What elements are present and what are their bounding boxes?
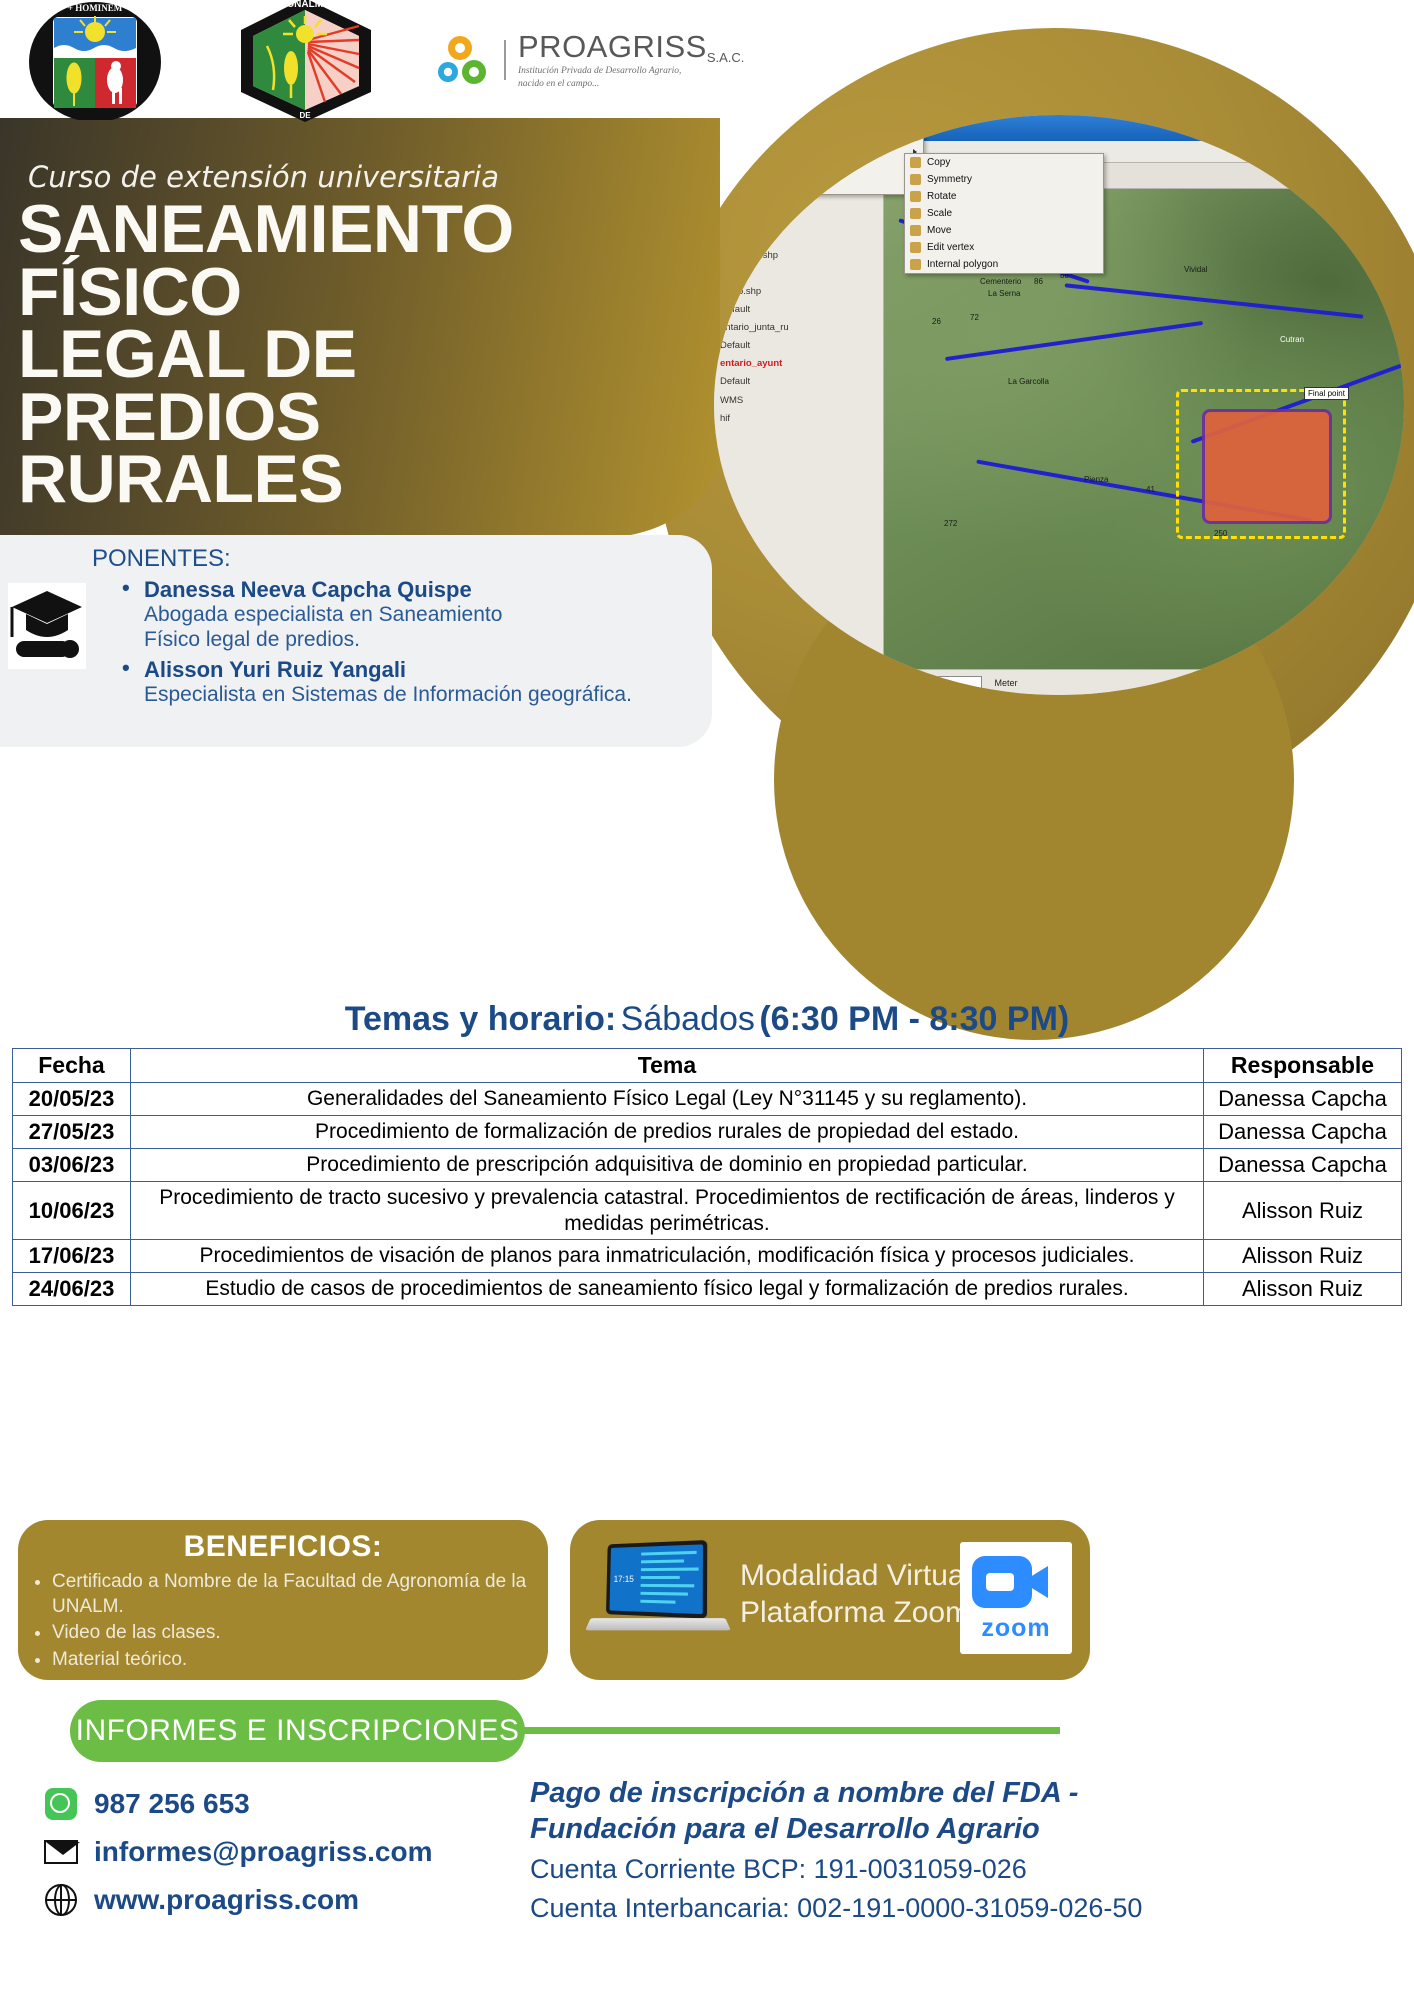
cell-tema: Procedimiento de tracto sucesivo y preva… [131, 1182, 1204, 1240]
gears-icon [438, 34, 494, 86]
list-item: Material teórico. [52, 1648, 548, 1673]
list-item: Danessa Neeva Capcha Quispe Abogada espe… [118, 577, 698, 653]
menu-label: Copy [927, 157, 950, 168]
layer-item[interactable]: alario.shp [720, 283, 877, 301]
map-number-label: 72 [970, 313, 979, 322]
list-item: Certificado a Nombre de la Facultad de A… [52, 1570, 548, 1619]
layer-item[interactable]: entario_junta_ru [720, 319, 877, 337]
laptop-screen: 17:15 [606, 1540, 707, 1619]
menu-label: Edit vertex [927, 242, 974, 253]
payment-heading-line-2: Fundación para el Desarrollo Agrario [530, 1811, 1142, 1847]
proagriss-logo: PROAGRISSS.A.C. Institución Privada de D… [438, 29, 744, 91]
menu-label: Move [927, 225, 951, 236]
rotate-icon [910, 191, 921, 202]
payment-info: Pago de inscripción a nombre del FDA - F… [530, 1775, 1142, 1926]
cell-tema: Estudio de casos de procedimientos de sa… [131, 1273, 1204, 1306]
map-place-label: La Garcolla [1008, 377, 1049, 386]
course-subtitle: Curso de extensión universitaria [28, 160, 499, 194]
menu-label: Insert [757, 146, 782, 157]
layer-item[interactable]: WMS [720, 392, 877, 410]
map-final-point-label: Final point [1304, 387, 1349, 400]
menu-item-copy[interactable]: Copy [905, 154, 1103, 171]
schedule-heading-time: (6:30 PM - 8:30 PM) [759, 1000, 1069, 1038]
divider [504, 40, 506, 80]
menu-item-rotate[interactable]: Rotate [905, 188, 1103, 205]
gis-context-menu-right[interactable]: Copy Symmetry Rotate Scale Move Edit ver… [904, 153, 1104, 274]
cell-fecha: 10/06/23 [13, 1182, 131, 1240]
benefits-card: BENEFICIOS: Certificado a Nombre de la F… [18, 1520, 548, 1680]
schedule-heading-day: Sábados [621, 1000, 755, 1038]
menu-label: Select [757, 180, 785, 191]
cell-fecha: 24/06/23 [13, 1273, 131, 1306]
cell-responsable: Danessa Capcha [1204, 1149, 1402, 1182]
symmetry-icon [910, 174, 921, 185]
menu-label: Complex selection [757, 163, 839, 174]
map-place-label: Vividal [1184, 265, 1207, 274]
modality-line-1: Modalidad Virtual [740, 1558, 971, 1595]
units-label: Meter [995, 678, 1018, 688]
menu-label: Symmetry [927, 174, 972, 185]
speakers-label: PONENTES: [92, 545, 231, 573]
speaker-desc-line: Físico legal de predios. [118, 628, 698, 653]
website-url[interactable]: www.proagriss.com [94, 1884, 359, 1916]
layer-item[interactable]: Default [720, 265, 877, 283]
gis-menu-help[interactable]: Help [1374, 146, 1395, 157]
list-item: Alisson Yuri Ruiz Yangali Especialista e… [118, 657, 698, 708]
table-row: 17/06/23 Procedimientos de visación de p… [13, 1240, 1402, 1273]
envelope-icon [42, 1833, 80, 1871]
gis-context-menu-left[interactable]: ary Insert Complex selection Select [734, 125, 924, 195]
informes-button[interactable]: INFORMES E INSCRIPCIONES [70, 1700, 525, 1762]
payment-account-corriente: Cuenta Corriente BCP: 191-0031059-026 [530, 1852, 1142, 1887]
map-number-label: 26 [932, 317, 941, 326]
speakers-card: PONENTES: Danessa Neeva Capcha Quispe Ab… [0, 535, 712, 747]
contact-row-email[interactable]: informes@proagriss.com [42, 1833, 433, 1871]
header-logo-row: + HOMINEM [0, 0, 1414, 120]
svg-text:UNALM: UNALM [287, 0, 323, 10]
svg-text:+ HOMINEM: + HOMINEM [68, 3, 123, 13]
schedule-heading: Temas y horario: Sábados (6:30 PM - 8:30… [0, 1000, 1414, 1039]
map-place-label: Cutran [1280, 335, 1304, 344]
schedule-table: Fecha Tema Responsable 20/05/23 Generali… [12, 1048, 1402, 1306]
schedule-heading-label: Temas y horario: [345, 1000, 616, 1038]
proagriss-tagline-2: nacido en el campo... [518, 79, 744, 91]
map-river-line [945, 321, 1203, 361]
scale-value[interactable]: 1: 5.118 [892, 676, 982, 692]
column-header-tema: Tema [131, 1049, 1204, 1083]
internal-polygon-icon [910, 259, 921, 270]
speaker-name: Danessa Neeva Capcha Quispe [118, 577, 698, 603]
cell-responsable: Alisson Ruiz [1204, 1240, 1402, 1273]
proagriss-name: PROAGRISS [518, 29, 707, 64]
table-row: 10/06/23 Procedimiento de tracto sucesiv… [13, 1182, 1402, 1240]
chevron-right-icon [913, 132, 917, 138]
contact-list: 987 256 653 informes@proagriss.com www.p… [42, 1785, 433, 1929]
title-line-1: SANEAMIENTO [18, 198, 514, 261]
svg-text:DE: DE [299, 111, 311, 120]
map-place-label: Pienza [1084, 475, 1108, 484]
menu-item-complex-selection[interactable]: Complex selection [735, 160, 923, 177]
menu-label: ary [757, 129, 771, 140]
modality-text: Modalidad Virtual Plataforma Zoom [740, 1558, 971, 1631]
menu-item-library[interactable]: ary [735, 126, 923, 143]
table-row: 03/06/23 Procedimiento de prescripción a… [13, 1149, 1402, 1182]
menu-label: Scale [927, 208, 952, 219]
map-number-label: 250 [1214, 529, 1227, 538]
speaker-name: Alisson Yuri Ruiz Yangali [118, 657, 698, 683]
table-header-row: Fecha Tema Responsable [13, 1049, 1402, 1083]
cell-responsable: Danessa Capcha [1204, 1083, 1402, 1116]
map-number-label: 41 [1146, 485, 1155, 494]
cell-tema: Procedimiento de prescripción adquisitiv… [131, 1149, 1204, 1182]
menu-item-internal-polygon[interactable]: Internal polygon [905, 256, 1103, 273]
benefits-title: BENEFICIOS: [18, 1530, 548, 1564]
layer-item[interactable]: ult [720, 211, 877, 229]
zoom-logo: zoom [960, 1542, 1072, 1654]
whatsapp-number[interactable]: 987 256 653 [94, 1788, 250, 1820]
menu-item-select[interactable]: Select [735, 177, 923, 194]
proagriss-suffix: S.A.C. [707, 50, 745, 65]
column-header-fecha: Fecha [13, 1049, 131, 1083]
menu-item-scale[interactable]: Scale [905, 205, 1103, 222]
cell-fecha: 20/05/23 [13, 1083, 131, 1116]
edit-vertex-icon [910, 242, 921, 253]
cell-responsable: Alisson Ruiz [1204, 1273, 1402, 1306]
payment-account-interbancaria: Cuenta Interbancaria: 002-191-0000-31059… [530, 1891, 1142, 1926]
facultad-agronomia-logo: UNALM DE [233, 0, 378, 124]
graduation-cap-icon [8, 583, 86, 669]
move-icon [910, 225, 921, 236]
map-place-label: Cementerio [980, 277, 1021, 286]
whatsapp-icon [42, 1785, 80, 1823]
laptop-icon: 17:15 [588, 1542, 728, 1652]
table-row: 27/05/23 Procedimiento de formalización … [13, 1116, 1402, 1149]
globe-icon [42, 1881, 80, 1919]
map-river-line [1065, 283, 1364, 318]
green-accent-line [520, 1727, 1060, 1734]
payment-heading-line-1: Pago de inscripción a nombre del FDA - [530, 1775, 1142, 1811]
gis-statusbar: 1: 5.118 Meter [884, 669, 1404, 695]
menu-item-symmetry[interactable]: Symmetry [905, 171, 1103, 188]
title-line-5: RURALES [18, 448, 514, 511]
cell-fecha: 27/05/23 [13, 1116, 131, 1149]
menu-label: Rotate [927, 191, 956, 202]
layer-item[interactable]: municipal.shp [720, 247, 877, 265]
map-place-label: La Serna [988, 289, 1020, 298]
layer-item[interactable]: hif [720, 410, 877, 428]
map-selected-parcel [1202, 409, 1332, 524]
map-number-label: 272 [944, 519, 957, 528]
layer-item[interactable]: Default [720, 301, 877, 319]
speaker-desc-line: Abogada especialista en Saneamiento [118, 603, 698, 628]
zoom-wordmark: zoom [960, 1614, 1072, 1643]
title-line-2: FÍSICO [18, 261, 514, 324]
title-line-3: LEGAL DE [18, 323, 514, 386]
zoom-camera-icon [972, 1556, 1060, 1612]
cell-tema: Procedimientos de visación de planos par… [131, 1240, 1204, 1273]
speaker-desc-line: Especialista en Sistemas de Información … [118, 683, 698, 708]
gis-screenshot-circle: Help amo.shp ult efault municipal.shp De… [714, 115, 1404, 695]
copy-icon [910, 157, 921, 168]
menu-item-move[interactable]: Move [905, 222, 1103, 239]
informes-button-label: INFORMES E INSCRIPCIONES [76, 1714, 520, 1748]
map-river-line [1337, 189, 1391, 286]
gis-layers-panel[interactable]: amo.shp ult efault municipal.shp Default… [714, 189, 884, 695]
layer-item[interactable]: efault [720, 229, 877, 247]
speakers-list: Danessa Neeva Capcha Quispe Abogada espe… [118, 577, 698, 711]
cell-responsable: Alisson Ruiz [1204, 1182, 1402, 1240]
scale-icon [910, 208, 921, 219]
benefits-list: Certificado a Nombre de la Facultad de A… [52, 1570, 548, 1673]
table-row: 20/05/23 Generalidades del Saneamiento F… [13, 1083, 1402, 1116]
laptop-time: 17:15 [614, 1574, 634, 1584]
cell-fecha: 03/06/23 [13, 1149, 131, 1182]
menu-item-edit-vertex[interactable]: Edit vertex [905, 239, 1103, 256]
contact-row-website[interactable]: www.proagriss.com [42, 1881, 433, 1919]
title-line-4: PREDIOS [18, 386, 514, 449]
cell-responsable: Danessa Capcha [1204, 1116, 1402, 1149]
page-title: SANEAMIENTO FÍSICO LEGAL DE PREDIOS RURA… [18, 198, 514, 511]
layer-item-active[interactable]: entario_ayunt [720, 355, 877, 373]
map-number-label: 86 [1034, 277, 1043, 286]
table-row: 24/06/23 Estudio de casos de procedimien… [13, 1273, 1402, 1306]
list-item: Video de las clases. [52, 1621, 548, 1646]
cell-tema: Procedimiento de formalización de predio… [131, 1116, 1204, 1149]
layer-item[interactable]: Default [720, 373, 877, 391]
column-header-responsable: Responsable [1204, 1049, 1402, 1083]
cell-tema: Generalidades del Saneamiento Físico Leg… [131, 1083, 1204, 1116]
contact-row-whatsapp[interactable]: 987 256 653 [42, 1785, 433, 1823]
unalm-shield-logo: + HOMINEM [28, 0, 163, 120]
modality-card: 17:15 Modalidad Virtual Plataforma Zoom … [570, 1520, 1090, 1680]
cell-fecha: 17/06/23 [13, 1240, 131, 1273]
menu-item-insert[interactable]: Insert [735, 143, 923, 160]
email-address[interactable]: informes@proagriss.com [94, 1836, 433, 1868]
layer-item[interactable]: Default [720, 337, 877, 355]
laptop-base [585, 1618, 731, 1630]
proagriss-tagline-1: Institución Privada de Desarrollo Agrari… [518, 66, 744, 78]
menu-label: Internal polygon [927, 259, 998, 270]
modality-line-2: Plataforma Zoom [740, 1595, 971, 1632]
layer-item[interactable]: amo.shp [720, 193, 877, 211]
